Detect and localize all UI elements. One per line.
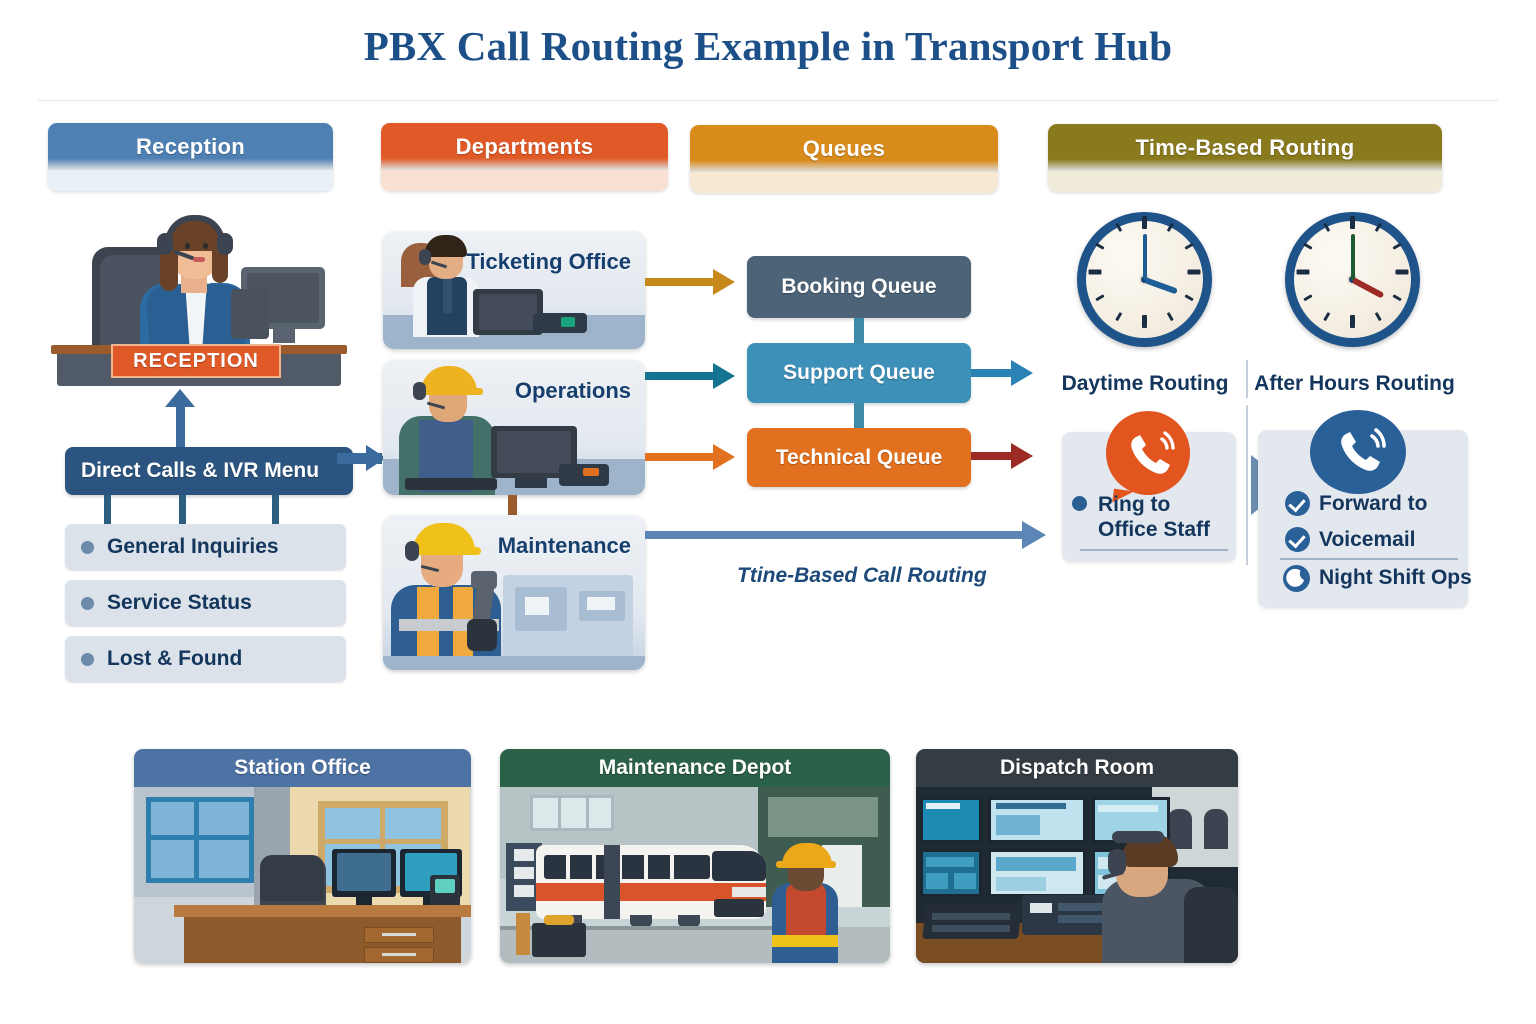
column-header-bar: Reception: [48, 123, 333, 170]
check-circle-icon: [1285, 527, 1310, 552]
queue-label: Technical Queue: [776, 446, 943, 470]
daytime-item-label: Ring to Office Staff: [1098, 492, 1230, 542]
column-header-tint: [690, 172, 998, 193]
arrow-right-icon: [1011, 443, 1033, 469]
department-card-ticketing-office[interactable]: Ticketing Office: [383, 231, 645, 349]
arrow-right-icon: [713, 363, 735, 389]
after-hours-item-label: Voicemail: [1319, 527, 1416, 552]
phone-oval-icon: [1310, 410, 1406, 494]
clock-minute-hand: [1351, 234, 1355, 280]
column-header-tint: [381, 170, 668, 191]
clock-tick: [1142, 216, 1147, 229]
facility-card-dispatch-room[interactable]: Dispatch Room: [916, 749, 1238, 963]
department-label: Operations: [515, 378, 631, 404]
clock-tick: [1396, 270, 1409, 275]
facility-card-header: Maintenance Depot: [500, 749, 890, 787]
queue-support[interactable]: Support Queue: [747, 343, 971, 403]
title-divider: [38, 100, 1498, 101]
department-card-maintenance[interactable]: Maintenance: [383, 515, 645, 670]
column-header-bar: Time-Based Routing: [1048, 124, 1442, 171]
arrow-right-icon: [1022, 521, 1046, 549]
clock-label-daytime: Daytime Routing: [1050, 372, 1240, 396]
clock-tick: [1188, 270, 1201, 275]
daytime-panel-rule: [1080, 549, 1228, 551]
ivr-menu-box[interactable]: Direct Calls & IVR Menu: [65, 447, 353, 495]
bullet-dot-icon: [81, 597, 94, 610]
time-based-call-routing-label: Ttine-Based Call Routing: [737, 564, 987, 588]
queue-booking[interactable]: Booking Queue: [747, 256, 971, 318]
clock-tick: [1089, 270, 1102, 275]
queue-technical[interactable]: Technical Queue: [747, 428, 971, 487]
stem-booking-support: [854, 318, 864, 343]
queue-label: Support Queue: [783, 361, 935, 385]
bullet-dot-icon: [81, 653, 94, 666]
stem-menu-2: [179, 495, 186, 524]
moon-icon: [1283, 565, 1310, 592]
clock-tick: [1350, 315, 1355, 328]
column-header-departments: Departments: [381, 123, 668, 191]
after-hours-item-night-shift-ops[interactable]: Night Shift Ops: [1283, 565, 1472, 592]
menu-item-lost-and-found[interactable]: Lost & Found: [65, 636, 346, 682]
moon-glyph: [1283, 565, 1310, 592]
connector-ivr-to-reception: [176, 404, 185, 450]
menu-item-label: Service Status: [107, 591, 252, 615]
menu-item-label: General Inquiries: [107, 535, 279, 559]
arrow-up-icon: [165, 389, 195, 407]
facility-card-maintenance-depot[interactable]: Maintenance Depot: [500, 749, 890, 963]
check-circle-icon: [1285, 491, 1310, 516]
phone-handset-glyph: [1310, 410, 1406, 494]
facility-card-station-office[interactable]: Station Office: [134, 749, 471, 963]
department-label: Ticketing Office: [466, 249, 631, 275]
phone-handset-glyph: [1106, 411, 1190, 495]
facility-card-image: [500, 787, 890, 963]
page-title: PBX Call Routing Example in Transport Hu…: [0, 22, 1536, 70]
column-header-tint: [1048, 171, 1442, 192]
after-hours-panel-rule: [1280, 558, 1458, 560]
clock-tick: [1142, 315, 1147, 328]
arrow-right-icon: [713, 269, 735, 295]
panel-divider: [1246, 405, 1248, 565]
bullet-dot-icon: [81, 541, 94, 554]
facility-card-header: Dispatch Room: [916, 749, 1238, 787]
menu-item-label: Lost & Found: [107, 647, 242, 671]
after-hours-item-forward-to[interactable]: Forward to: [1285, 491, 1428, 516]
routing-divider: [1246, 360, 1248, 398]
phone-ring-bubble-icon: [1106, 411, 1190, 495]
menu-item-general-inquiries[interactable]: General Inquiries: [65, 524, 346, 570]
facility-card-header: Station Office: [134, 749, 471, 787]
clock-tick: [1297, 270, 1310, 275]
stem-menu-3: [272, 495, 279, 524]
facility-card-image: [134, 787, 471, 963]
column-header-reception: Reception: [48, 123, 333, 191]
after-hours-item-voicemail[interactable]: Voicemail: [1285, 527, 1416, 552]
column-header-queues: Queues: [690, 125, 998, 193]
bullet-dot-icon: [1072, 496, 1087, 511]
department-card-operations[interactable]: Operations: [383, 360, 645, 495]
menu-item-service-status[interactable]: Service Status: [65, 580, 346, 626]
column-header-time-based-routing: Time-Based Routing: [1048, 124, 1442, 192]
reception-sign-label: RECEPTION: [133, 350, 259, 373]
after-hours-item-label: Forward to: [1319, 491, 1428, 516]
clock-after-hours-icon: [1285, 212, 1420, 347]
clock-tick: [1350, 216, 1355, 229]
clock-daytime-icon: [1077, 212, 1212, 347]
stem-support-technical: [854, 403, 864, 428]
arrow-right-icon: [1011, 360, 1033, 386]
queue-label: Booking Queue: [781, 275, 936, 299]
column-header-bar: Queues: [690, 125, 998, 172]
clock-label-after-hours: After Hours Routing: [1252, 372, 1457, 396]
arrow-right-icon: [713, 444, 735, 470]
connector-maintenance-to-time-routing: [645, 531, 1035, 539]
column-header-tint: [48, 170, 333, 191]
reception-illustration: RECEPTION: [45, 205, 355, 385]
column-header-bar: Departments: [381, 123, 668, 170]
stem-operations-maintenance: [508, 495, 517, 517]
ivr-menu-label: Direct Calls & IVR Menu: [81, 459, 319, 483]
facility-card-image: [916, 787, 1238, 963]
daytime-item-ring-to-office-staff[interactable]: Ring to Office Staff: [1072, 492, 1230, 542]
stem-menu-1: [104, 495, 111, 524]
department-label: Maintenance: [498, 533, 631, 559]
after-hours-item-label: Night Shift Ops: [1319, 565, 1472, 590]
clock-minute-hand: [1143, 234, 1147, 280]
